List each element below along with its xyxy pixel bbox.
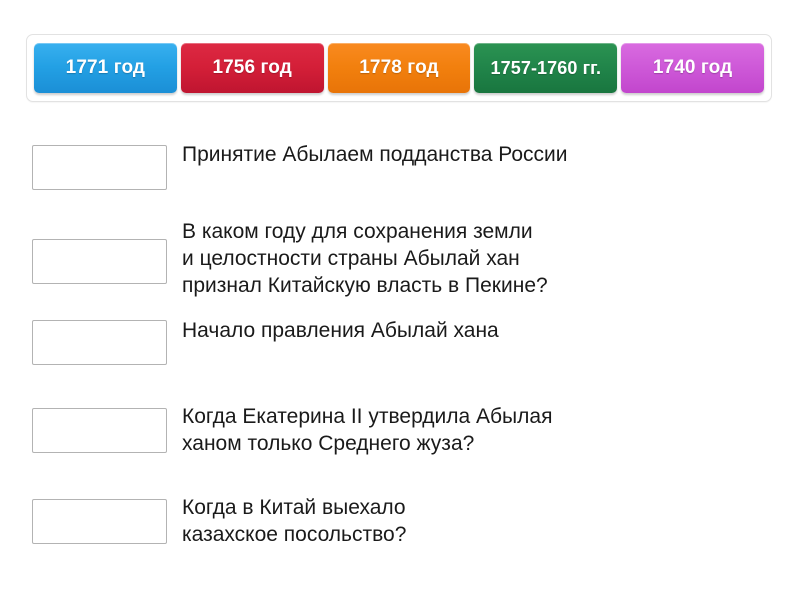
question-row: Принятие Абылаем подданства России [0,128,800,210]
answer-tiles-tray: 1771 год 1756 год 1778 год 1757-1760 гг.… [26,34,772,102]
question-row: Когда в Китай выехало казахское посольст… [0,472,800,558]
answer-drop-zone-4[interactable] [32,499,167,544]
question-text-3: Когда Екатерина II утвердила Абылая хано… [182,403,782,457]
answer-tile-label: 1778 год [359,57,438,79]
answer-drop-zone-0[interactable] [32,145,167,190]
question-text-2: Начало правления Абылай хана [182,317,782,344]
answer-tile-label: 1757-1760 гг. [491,58,602,79]
question-list: Принятие Абылаем подданства России В как… [0,128,800,558]
answer-tile-label: 1771 год [66,57,145,79]
answer-tile-1[interactable]: 1756 год [181,43,324,93]
question-text-0: Принятие Абылаем подданства России [182,141,782,168]
question-text-1: В каком году для сохранения земли и цело… [182,218,782,299]
question-row: В каком году для сохранения земли и цело… [0,210,800,302]
answer-tile-3[interactable]: 1757-1760 гг. [474,43,617,93]
answer-tile-4[interactable]: 1740 год [621,43,764,93]
answer-drop-zone-3[interactable] [32,408,167,453]
answer-tile-label: 1740 год [653,57,732,79]
question-text-4: Когда в Китай выехало казахское посольст… [182,494,782,548]
answer-tile-0[interactable]: 1771 год [34,43,177,93]
question-row: Когда Екатерина II утвердила Абылая хано… [0,386,800,472]
answer-drop-zone-2[interactable] [32,320,167,365]
question-row: Начало правления Абылай хана [0,302,800,386]
answer-tile-2[interactable]: 1778 год [328,43,471,93]
answer-tile-label: 1756 год [212,57,291,79]
answer-drop-zone-1[interactable] [32,239,167,284]
